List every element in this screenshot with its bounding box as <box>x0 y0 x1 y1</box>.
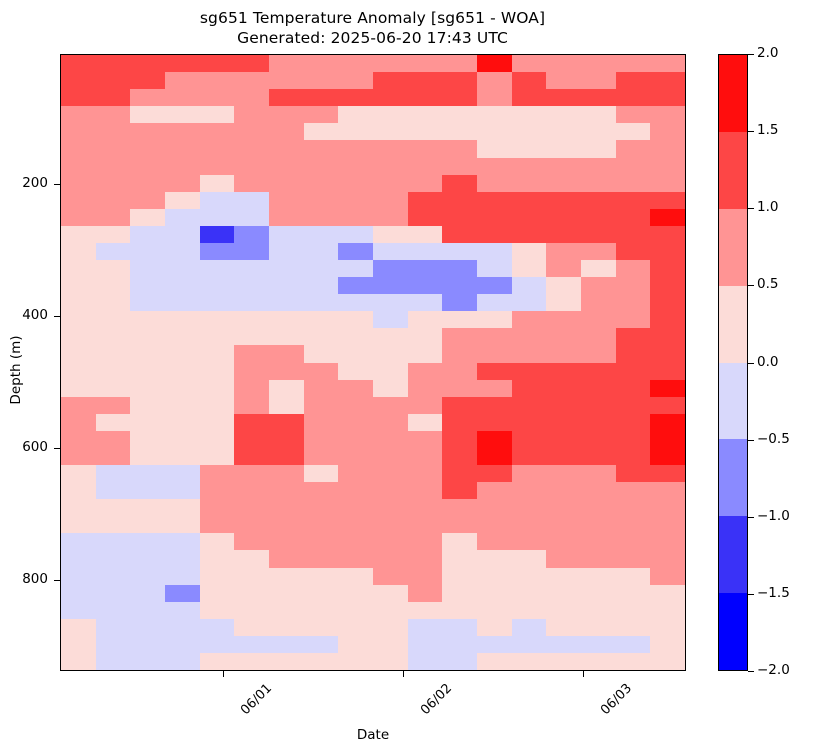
heatmap-cell <box>546 260 581 277</box>
heatmap-cell <box>581 568 616 585</box>
heatmap-cell <box>61 619 96 636</box>
heatmap-cell <box>61 448 96 465</box>
heatmap-cell <box>512 175 547 192</box>
heatmap-cell <box>477 533 512 550</box>
heatmap-cell <box>200 397 235 414</box>
heatmap-cell <box>96 482 131 499</box>
heatmap-cell <box>650 175 685 192</box>
heatmap-cell <box>373 226 408 243</box>
heatmap-cell <box>61 72 96 89</box>
heatmap-cell <box>616 516 651 533</box>
heatmap-cell <box>130 72 165 89</box>
heatmap-cell <box>616 363 651 380</box>
heatmap-cell <box>61 585 96 602</box>
heatmap-cell <box>269 209 304 226</box>
heatmap-cell <box>546 516 581 533</box>
x-axis-tick-label: 06/03 <box>597 681 634 718</box>
heatmap-cell <box>234 397 269 414</box>
heatmap-cell <box>165 516 200 533</box>
heatmap-cell <box>581 328 616 345</box>
heatmap-cell <box>546 294 581 311</box>
heatmap-cell <box>512 414 547 431</box>
colorbar-tick-mark <box>748 440 754 441</box>
heatmap-cell <box>442 448 477 465</box>
heatmap-cell <box>304 414 339 431</box>
heatmap-cell <box>234 585 269 602</box>
heatmap-cell <box>234 499 269 516</box>
heatmap-cell <box>477 585 512 602</box>
heatmap-cell <box>616 243 651 260</box>
heatmap-cell <box>650 345 685 362</box>
heatmap-cell <box>512 448 547 465</box>
heatmap-cell <box>581 209 616 226</box>
heatmap-cell <box>408 516 443 533</box>
heatmap-cell <box>200 243 235 260</box>
heatmap-cell <box>581 89 616 106</box>
heatmap-cell <box>616 431 651 448</box>
heatmap-cell <box>61 55 96 72</box>
heatmap-cell <box>373 431 408 448</box>
heatmap-cell <box>200 431 235 448</box>
heatmap-cell <box>130 243 165 260</box>
colorbar-tick-label: −1.5 <box>757 585 790 601</box>
heatmap-cell <box>304 482 339 499</box>
y-axis-tick-label: 400 <box>0 307 48 323</box>
colorbar-tick-mark <box>748 594 754 595</box>
heatmap-cell <box>338 140 373 157</box>
heatmap-cell <box>546 209 581 226</box>
heatmap-cell <box>200 192 235 209</box>
heatmap-cell <box>96 431 131 448</box>
heatmap-cell <box>650 465 685 482</box>
heatmap-cell <box>130 89 165 106</box>
heatmap-cell <box>269 465 304 482</box>
heatmap-cell <box>581 482 616 499</box>
heatmap-cell <box>581 397 616 414</box>
heatmap-cell <box>442 585 477 602</box>
heatmap-cell <box>96 380 131 397</box>
heatmap-cell <box>338 243 373 260</box>
heatmap-cell <box>373 499 408 516</box>
heatmap-cell <box>581 363 616 380</box>
heatmap-cell <box>234 431 269 448</box>
heatmap-cell <box>442 550 477 567</box>
heatmap-cell <box>130 277 165 294</box>
heatmap-cell <box>200 345 235 362</box>
heatmap-cell <box>442 55 477 72</box>
heatmap-cell <box>650 89 685 106</box>
heatmap-cell <box>546 158 581 175</box>
heatmap-cell <box>165 397 200 414</box>
heatmap-cell <box>304 260 339 277</box>
heatmap-cell <box>650 328 685 345</box>
colorbar-tick-mark <box>748 517 754 518</box>
heatmap-cell <box>650 106 685 123</box>
heatmap-cell <box>269 568 304 585</box>
heatmap-cell <box>61 140 96 157</box>
heatmap-cell <box>130 294 165 311</box>
heatmap-cell <box>512 636 547 653</box>
heatmap-cell <box>408 431 443 448</box>
heatmap-cell <box>373 106 408 123</box>
heatmap-cell <box>546 482 581 499</box>
heatmap-cell <box>616 414 651 431</box>
colorbar-tick-mark <box>748 208 754 209</box>
heatmap-cell <box>234 328 269 345</box>
heatmap-cell <box>338 192 373 209</box>
heatmap-cell <box>477 192 512 209</box>
heatmap-cell <box>96 175 131 192</box>
colorbar-tick-label: −1.0 <box>757 508 790 524</box>
heatmap-cell <box>96 516 131 533</box>
heatmap-cell <box>408 448 443 465</box>
heatmap-grid <box>61 55 685 670</box>
heatmap-cell <box>61 345 96 362</box>
colorbar-tick-mark <box>748 363 754 364</box>
heatmap-cell <box>96 363 131 380</box>
heatmap-cell <box>442 465 477 482</box>
heatmap-cell <box>304 653 339 670</box>
heatmap-cell <box>546 140 581 157</box>
heatmap-cell <box>130 328 165 345</box>
heatmap-cell <box>269 106 304 123</box>
colorbar-tick-label: 1.5 <box>757 122 778 138</box>
heatmap-cell <box>408 158 443 175</box>
heatmap-cell <box>130 158 165 175</box>
heatmap-cell <box>477 175 512 192</box>
heatmap-cell <box>234 277 269 294</box>
heatmap-cell <box>200 533 235 550</box>
heatmap-cell <box>650 209 685 226</box>
heatmap-cell <box>130 602 165 619</box>
heatmap-cell <box>373 209 408 226</box>
chart-title-line-1: sg651 Temperature Anomaly [sg651 - WOA] <box>0 8 745 28</box>
heatmap-cell <box>200 226 235 243</box>
heatmap-cell <box>130 140 165 157</box>
heatmap-cell <box>200 653 235 670</box>
heatmap-cell <box>373 516 408 533</box>
heatmap-cell <box>650 294 685 311</box>
heatmap-cell <box>477 260 512 277</box>
heatmap-cell <box>234 89 269 106</box>
heatmap-cell <box>616 209 651 226</box>
heatmap-cell <box>200 277 235 294</box>
heatmap-cell <box>269 328 304 345</box>
heatmap-cell <box>130 431 165 448</box>
heatmap-cell <box>408 72 443 89</box>
heatmap-cell <box>130 465 165 482</box>
heatmap-cell <box>200 465 235 482</box>
heatmap-cell <box>442 431 477 448</box>
heatmap-cell <box>477 653 512 670</box>
heatmap-cell <box>650 619 685 636</box>
heatmap-cell <box>165 260 200 277</box>
heatmap-cell <box>234 311 269 328</box>
heatmap-cell <box>373 380 408 397</box>
heatmap-cell <box>130 345 165 362</box>
heatmap-cell <box>165 140 200 157</box>
heatmap-cell <box>650 431 685 448</box>
heatmap-cell <box>442 363 477 380</box>
heatmap-cell <box>477 414 512 431</box>
heatmap-cell <box>165 482 200 499</box>
heatmap-cell <box>338 226 373 243</box>
heatmap-cell <box>512 226 547 243</box>
heatmap-cell <box>130 175 165 192</box>
heatmap-cell <box>546 226 581 243</box>
heatmap-cell <box>581 345 616 362</box>
heatmap-cell <box>546 533 581 550</box>
heatmap-cell <box>165 328 200 345</box>
colorbar-band <box>719 439 747 516</box>
heatmap-cell <box>373 363 408 380</box>
heatmap-cell <box>373 397 408 414</box>
heatmap-cell <box>373 465 408 482</box>
heatmap-cell <box>512 345 547 362</box>
heatmap-cell <box>269 499 304 516</box>
heatmap-cell <box>338 380 373 397</box>
heatmap-cell <box>373 192 408 209</box>
heatmap-cell <box>442 209 477 226</box>
heatmap-cell <box>234 448 269 465</box>
colorbar-band <box>719 593 747 670</box>
heatmap-cell <box>650 499 685 516</box>
heatmap-cell <box>96 72 131 89</box>
colorbar[interactable] <box>718 54 748 671</box>
heatmap-cell <box>234 533 269 550</box>
heatmap-cell <box>408 619 443 636</box>
heatmap-cell <box>650 226 685 243</box>
heatmap-cell <box>650 516 685 533</box>
heatmap-cell <box>269 123 304 140</box>
heatmap-cell <box>338 345 373 362</box>
heatmap-cell <box>408 175 443 192</box>
heatmap-cell <box>269 226 304 243</box>
heatmap-cell <box>165 636 200 653</box>
heatmap-cell <box>373 89 408 106</box>
heatmap-cell <box>512 533 547 550</box>
heatmap-cell <box>477 123 512 140</box>
heatmap-cell <box>234 260 269 277</box>
heatmap-cell <box>442 602 477 619</box>
heatmap-cell <box>546 568 581 585</box>
colorbar-tick-mark <box>748 131 754 132</box>
heatmap-cell <box>304 277 339 294</box>
heatmap-cell <box>304 448 339 465</box>
heatmap-cell <box>269 636 304 653</box>
heatmap-cell <box>130 123 165 140</box>
heatmap-cell <box>61 482 96 499</box>
y-axis-tick-mark <box>54 448 60 449</box>
heatmap-cell <box>96 636 131 653</box>
heatmap-cell <box>130 482 165 499</box>
heatmap-cell <box>373 619 408 636</box>
heatmap-cell <box>408 397 443 414</box>
heatmap-cell <box>373 585 408 602</box>
heatmap-cell <box>408 89 443 106</box>
heatmap-cell <box>269 397 304 414</box>
heatmap-cell <box>477 106 512 123</box>
heatmap-cell <box>304 499 339 516</box>
heatmap-cell <box>616 636 651 653</box>
heatmap-cell <box>200 106 235 123</box>
heatmap-cell <box>442 123 477 140</box>
heatmap-cell <box>165 568 200 585</box>
heatmap-cell <box>304 345 339 362</box>
heatmap-cell <box>96 653 131 670</box>
heatmap-cell <box>442 294 477 311</box>
heatmap-cell <box>165 414 200 431</box>
heatmap-cell <box>130 414 165 431</box>
heatmap-cell <box>96 260 131 277</box>
heatmap-cell <box>200 175 235 192</box>
heatmap-cell <box>304 465 339 482</box>
heatmap-cell <box>546 465 581 482</box>
heatmap-cell <box>96 294 131 311</box>
heatmap-cell <box>165 72 200 89</box>
heatmap-cell <box>61 158 96 175</box>
colorbar-tick-mark <box>748 54 754 55</box>
heatmap-cell <box>304 55 339 72</box>
heatmap-cell <box>581 516 616 533</box>
heatmap-cell <box>581 226 616 243</box>
heatmap-cell <box>96 397 131 414</box>
heatmap-cell <box>581 533 616 550</box>
heatmap-cell <box>512 243 547 260</box>
heatmap-cell <box>616 123 651 140</box>
heatmap-cell <box>442 482 477 499</box>
heatmap-cell <box>61 106 96 123</box>
heatmap-cell <box>338 260 373 277</box>
heatmap-cell <box>304 226 339 243</box>
heatmap-cell <box>650 55 685 72</box>
heatmap-cell <box>338 465 373 482</box>
heatmap-cell <box>512 123 547 140</box>
heatmap-cell <box>546 414 581 431</box>
heatmap-cell <box>130 397 165 414</box>
heatmap-cell <box>546 653 581 670</box>
heatmap-cell <box>477 158 512 175</box>
heatmap-cell <box>200 448 235 465</box>
heatmap-cell <box>96 123 131 140</box>
heatmap-cell <box>546 106 581 123</box>
heatmap-cell <box>61 397 96 414</box>
heatmap-cell <box>408 55 443 72</box>
heatmap-cell <box>616 226 651 243</box>
heatmap-cell <box>373 175 408 192</box>
heatmap-cell <box>234 516 269 533</box>
heatmap-cell <box>304 106 339 123</box>
heatmap-cell <box>304 550 339 567</box>
heatmap-cell <box>408 550 443 567</box>
colorbar-tick-label: −0.5 <box>757 431 790 447</box>
heatmap-cell <box>234 602 269 619</box>
heatmap-cell <box>304 568 339 585</box>
heatmap-cell <box>304 158 339 175</box>
heatmap-cell <box>200 89 235 106</box>
heatmap-cell <box>373 243 408 260</box>
heatmap-cell <box>234 55 269 72</box>
heatmap-cell <box>650 380 685 397</box>
heatmap-cell <box>616 345 651 362</box>
heatmap-cell <box>581 277 616 294</box>
heatmap-cell <box>61 516 96 533</box>
heatmap-cell <box>200 602 235 619</box>
heatmap-cell <box>304 209 339 226</box>
heatmap-cell <box>234 123 269 140</box>
heatmap-cell <box>477 55 512 72</box>
heatmap-cell <box>165 311 200 328</box>
heatmap-cell <box>546 55 581 72</box>
heatmap-cell <box>165 294 200 311</box>
heatmap-cell <box>130 636 165 653</box>
heatmap-cell <box>304 602 339 619</box>
heatmap-cell <box>512 192 547 209</box>
heatmap-cell <box>338 448 373 465</box>
heatmap-cell <box>512 499 547 516</box>
heatmap-cell <box>165 277 200 294</box>
heatmap-cell <box>234 380 269 397</box>
heatmap-cell <box>408 243 443 260</box>
heatmap-cell <box>650 260 685 277</box>
heatmap-cell <box>338 328 373 345</box>
heatmap-cell <box>546 499 581 516</box>
heatmap-cell <box>269 311 304 328</box>
heatmap-cell <box>165 499 200 516</box>
heatmap-cell <box>512 294 547 311</box>
heatmap-cell <box>338 619 373 636</box>
heatmap-cell <box>304 533 339 550</box>
heatmap-cell <box>512 55 547 72</box>
heatmap-cell <box>61 260 96 277</box>
heatmap-cell <box>546 602 581 619</box>
heatmap-cell <box>200 140 235 157</box>
heatmap-cell <box>477 380 512 397</box>
heatmap-cell <box>96 568 131 585</box>
heatmap-cell <box>408 482 443 499</box>
heatmap-axes[interactable] <box>60 54 686 671</box>
heatmap-cell <box>61 550 96 567</box>
heatmap-cell <box>512 465 547 482</box>
colorbar-band <box>719 132 747 209</box>
heatmap-cell <box>269 243 304 260</box>
heatmap-cell <box>61 568 96 585</box>
heatmap-cell <box>373 140 408 157</box>
heatmap-cell <box>200 550 235 567</box>
heatmap-cell <box>269 175 304 192</box>
heatmap-cell <box>130 260 165 277</box>
heatmap-cell <box>130 568 165 585</box>
heatmap-cell <box>616 619 651 636</box>
heatmap-cell <box>61 226 96 243</box>
heatmap-cell <box>581 55 616 72</box>
heatmap-cell <box>269 585 304 602</box>
heatmap-cell <box>200 328 235 345</box>
heatmap-cell <box>581 499 616 516</box>
heatmap-cell <box>616 397 651 414</box>
heatmap-cell <box>616 192 651 209</box>
heatmap-cell <box>338 72 373 89</box>
x-axis-tick-mark <box>223 671 224 677</box>
heatmap-cell <box>512 209 547 226</box>
heatmap-cell <box>442 533 477 550</box>
heatmap-cell <box>408 106 443 123</box>
heatmap-cell <box>546 72 581 89</box>
heatmap-cell <box>200 380 235 397</box>
heatmap-cell <box>442 89 477 106</box>
heatmap-cell <box>650 636 685 653</box>
x-axis-tick-mark <box>403 671 404 677</box>
